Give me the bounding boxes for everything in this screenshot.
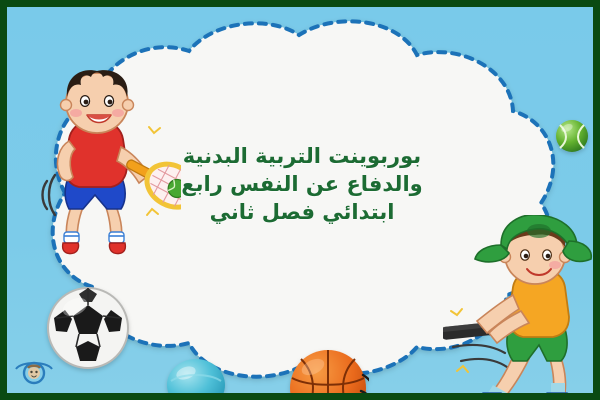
boy-baseball-batter-illustration: [443, 215, 600, 400]
boy-tennis-player-illustration: [21, 69, 181, 259]
watermark-badge-icon: [13, 355, 55, 385]
green-tennis-ball-icon: [555, 119, 589, 153]
basketball-icon: [287, 347, 369, 400]
poster-canvas: بوربوينت التربية البدنية والدفاع عن النف…: [0, 0, 600, 400]
watermark-logo: [13, 355, 83, 389]
teal-ball-icon: [165, 355, 227, 400]
